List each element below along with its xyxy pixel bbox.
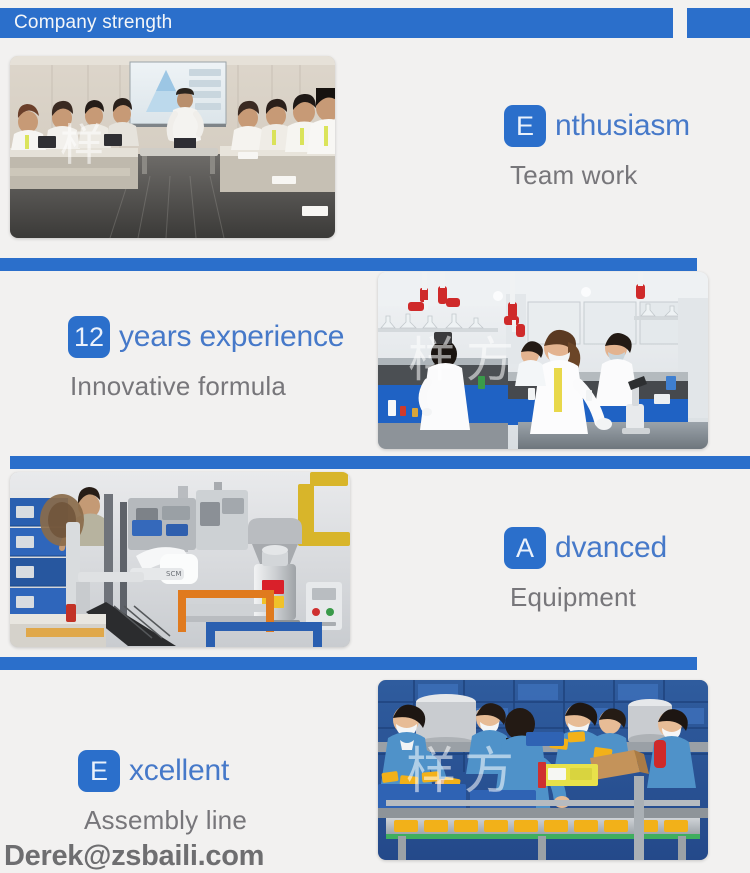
photo-watermark-glyph-2: 方	[464, 742, 514, 800]
photo-training-meeting-image: 样	[10, 56, 335, 238]
contact-watermark: Derek@zsbaili.com	[4, 840, 264, 873]
feature-excellent-headline: xcellent	[129, 754, 229, 788]
svg-text:SCM: SCM	[166, 570, 181, 578]
photo-assembly-line-image: 样 方	[378, 680, 708, 860]
feature-excellent-badge: E	[78, 750, 120, 792]
photo-laboratory: 样 方	[378, 272, 708, 449]
feature-advanced-headline-row: A dvanced	[504, 527, 667, 569]
feature-experience-subline: Innovative formula	[70, 371, 344, 402]
feature-experience-badge: 12	[68, 316, 110, 358]
photo-factory-equipment: SCM	[10, 472, 350, 647]
photo-watermark-glyph: 样	[60, 120, 104, 171]
page-title: Company strength	[14, 12, 172, 34]
feature-enthusiasm-badge: E	[504, 105, 546, 147]
photo-training-meeting: 样	[10, 56, 335, 238]
photo-watermark-glyph: 样	[406, 742, 456, 800]
feature-excellent-subline: Assembly line	[84, 805, 247, 836]
section-divider-2	[10, 456, 750, 469]
feature-excellent: E xcellent Assembly line	[78, 750, 247, 836]
feature-experience-headline: years experience	[119, 320, 344, 354]
feature-enthusiasm-headline-row: E nthusiasm	[504, 105, 690, 147]
header-bar-tail	[687, 8, 750, 38]
feature-advanced: A dvanced Equipment	[504, 527, 667, 613]
photo-factory-equipment-image: SCM	[10, 472, 350, 647]
feature-enthusiasm-subline: Team work	[510, 160, 690, 191]
photo-laboratory-image: 样 方	[378, 272, 708, 449]
feature-enthusiasm-headline: nthusiasm	[555, 109, 690, 143]
page-header: Company strength	[0, 8, 750, 38]
feature-experience: 12 years experience Innovative formula	[68, 316, 344, 402]
feature-advanced-headline: dvanced	[555, 531, 667, 565]
section-divider-1	[0, 258, 697, 271]
feature-excellent-headline-row: E xcellent	[78, 750, 247, 792]
photo-watermark-glyph: 样	[408, 332, 456, 388]
feature-advanced-badge: A	[504, 527, 546, 569]
photo-assembly-line: 样 方	[378, 680, 708, 860]
feature-advanced-subline: Equipment	[510, 582, 667, 613]
feature-experience-headline-row: 12 years experience	[68, 316, 344, 358]
section-divider-3	[0, 657, 697, 670]
photo-watermark-glyph-2: 方	[466, 332, 514, 388]
feature-enthusiasm: E nthusiasm Team work	[504, 105, 690, 191]
